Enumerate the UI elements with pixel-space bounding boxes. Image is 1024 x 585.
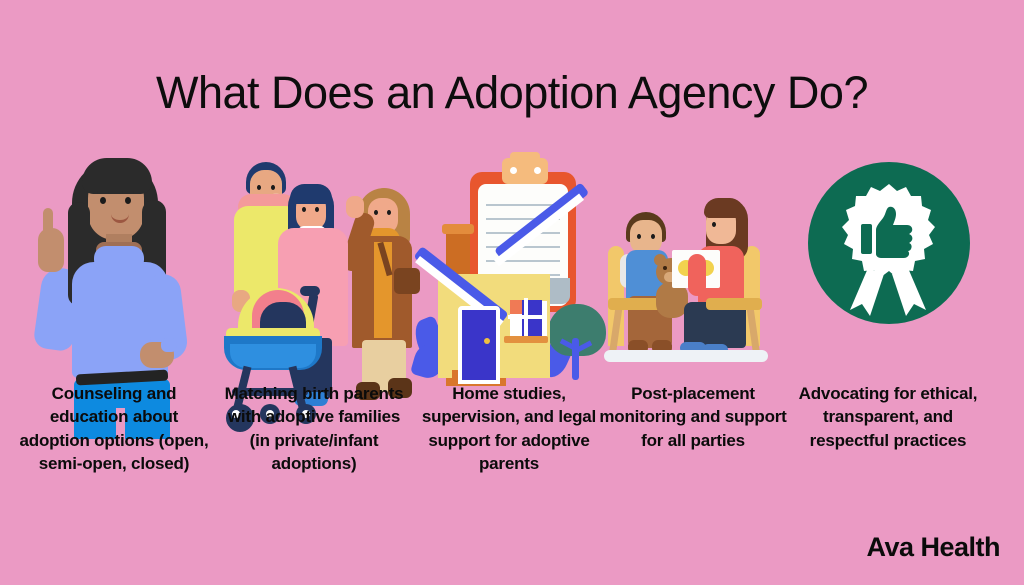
chair-seat-right	[706, 298, 762, 310]
eyebrow-right	[122, 191, 134, 194]
caption-post-placement: Post-placement monitoring and support fo…	[598, 382, 788, 452]
column-post-placement: Post-placement monitoring and support fo…	[598, 150, 794, 550]
illustration-woman-counselor-pointing-up	[16, 150, 212, 375]
caption-advocacy: Advocating for ethical, transparent, and…	[788, 382, 988, 452]
therapist-fringe	[704, 198, 744, 218]
clamp-hole-left	[510, 167, 517, 174]
chimney-cap	[442, 224, 474, 234]
sleeve-cuff	[161, 338, 177, 352]
window-mullion-vertical	[524, 298, 528, 338]
column-advocacy: Advocating for ethical, transparent, and…	[790, 150, 986, 550]
door-knob-icon	[484, 338, 490, 344]
eye-right	[125, 197, 131, 204]
mother-eye-left	[302, 207, 306, 212]
caption-matching: Matching birth parents with adoptive fam…	[216, 382, 412, 476]
child-eye-right	[651, 234, 655, 239]
birth-parent-eye-right	[387, 210, 391, 215]
award-ribbon-icon	[790, 150, 986, 346]
caption-home-studies: Home studies, supervision, and legal sup…	[414, 382, 604, 476]
eye-left	[100, 197, 106, 204]
turtleneck-collar	[94, 246, 144, 272]
hair-fringe-shape	[82, 158, 152, 194]
clipboard-clamp-top	[510, 152, 540, 164]
column-counseling: Counseling and education about adoption …	[16, 150, 212, 550]
floor-rug	[604, 350, 768, 362]
window-sill	[504, 336, 548, 343]
caption-counseling: Counseling and education about adoption …	[16, 382, 212, 476]
child-eye-left	[637, 234, 641, 239]
mother-eye-right	[315, 207, 319, 212]
brand-logo: Ava Health	[866, 532, 1000, 563]
column-matching: Matching birth parents with adoptive fam…	[216, 150, 412, 550]
illustration-house-with-clipboard	[414, 150, 610, 375]
child-face	[630, 220, 662, 254]
clamp-hole-right	[534, 167, 541, 174]
column-home-studies: Home studies, supervision, and legal sup…	[414, 150, 610, 550]
illustration-family-with-stroller	[216, 150, 412, 375]
illustration-child-and-therapist	[598, 150, 794, 375]
stroller-handle-grip	[300, 286, 320, 296]
teddy-eye-left	[663, 266, 667, 270]
birth-parent-eye-left	[374, 210, 378, 215]
illustration-award-badge	[790, 150, 986, 375]
page-title: What Does an Adoption Agency Do?	[0, 68, 1024, 118]
stroller-basin-highlight	[230, 344, 316, 368]
infographic-canvas: What Does an Adoption Agency Do?	[0, 0, 1024, 585]
raised-hand-icon	[38, 228, 64, 272]
front-door	[458, 306, 500, 384]
therapist-arm	[688, 254, 706, 296]
father-eye-right	[271, 185, 275, 190]
therapist-eye	[712, 222, 716, 227]
eyebrow-left	[97, 191, 109, 194]
mother-fringe	[290, 184, 332, 204]
paper-folded-corner	[548, 278, 570, 304]
waving-hand-icon	[346, 196, 364, 218]
father-eye-left	[257, 185, 261, 190]
window-curtain-top	[510, 300, 522, 314]
